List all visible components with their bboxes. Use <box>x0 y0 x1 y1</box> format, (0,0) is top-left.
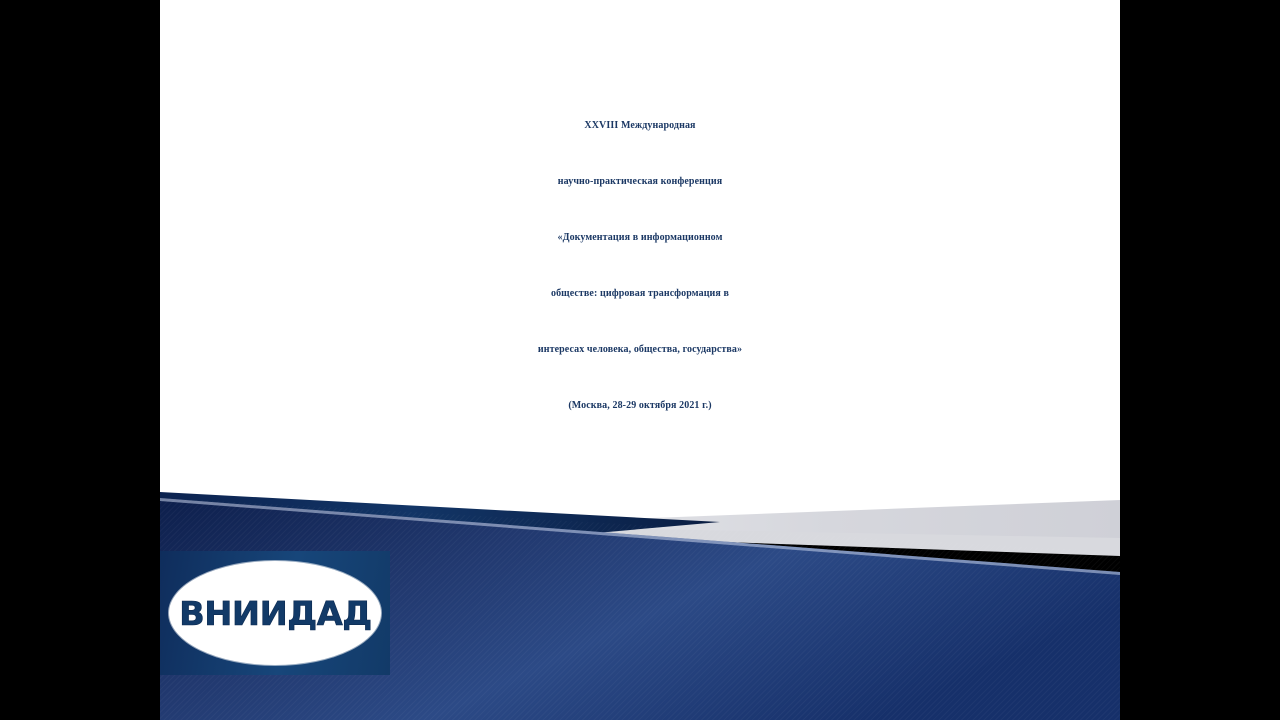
title-line-6: (Москва, 28-29 октября 2021 г.) <box>174 378 1106 434</box>
logo-text: ВНИИДАД <box>179 597 372 630</box>
title-line-5: интересах человека, общества, государств… <box>174 322 1106 378</box>
logo-ellipse-shape: ВНИИДАД <box>169 561 381 665</box>
title-line-3: «Документация в информационном <box>174 210 1106 266</box>
letterbox-bar-left <box>0 0 160 720</box>
title-slide: XXVIII Международная научно-практическая… <box>160 0 1120 720</box>
title-line-2: научно-практическая конференция <box>174 154 1106 210</box>
slide-viewer: XXVIII Международная научно-практическая… <box>0 0 1280 720</box>
title-line-4: обществе: цифровая трансформация в <box>174 266 1106 322</box>
vniidad-logo: ВНИИДАД <box>160 551 390 675</box>
page-title: XXVIII Международная научно-практическая… <box>160 98 1120 434</box>
letterbox-bar-right <box>1120 0 1280 720</box>
title-line-1: XXVIII Международная <box>174 98 1106 154</box>
